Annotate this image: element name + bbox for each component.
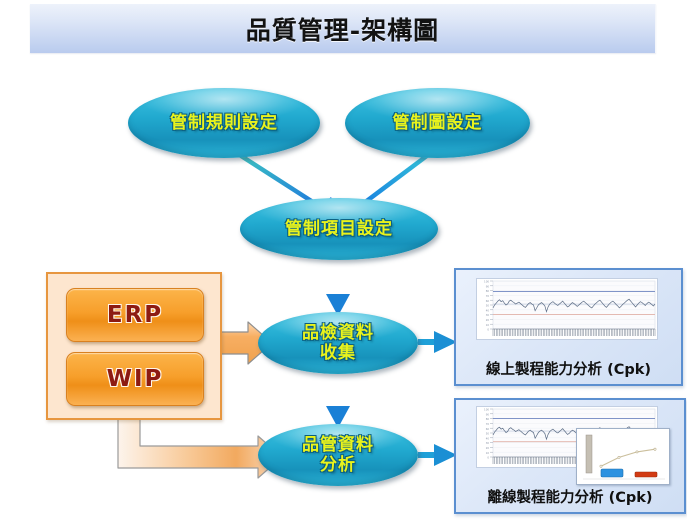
inset-capability-chart-svg [577, 429, 669, 484]
svg-text:90: 90 [486, 412, 490, 416]
svg-text:60: 60 [486, 427, 490, 431]
arrow-analyze-to-offline-panel [418, 444, 457, 466]
svg-text:50: 50 [486, 432, 490, 436]
node-control-chart-label: 管制圖設定 [393, 113, 483, 133]
svg-text:20: 20 [486, 446, 490, 450]
svg-text:0: 0 [487, 456, 489, 460]
source-button-erp-label: ERP [107, 302, 163, 328]
control-chart-online: 1009080706050403020100 [476, 278, 658, 340]
svg-text:90: 90 [486, 284, 490, 288]
arrow-items-to-collect [326, 254, 350, 316]
svg-text:70: 70 [486, 294, 490, 298]
svg-text:80: 80 [486, 289, 490, 293]
svg-text:40: 40 [486, 308, 490, 312]
source-button-wip-label: WIP [107, 366, 164, 392]
inset-capability-chart [576, 428, 670, 485]
svg-text:0: 0 [487, 328, 489, 332]
title-banner: 品質管理-架構圖 [30, 4, 656, 53]
svg-text:20: 20 [486, 318, 490, 322]
panel-offline-cpk-caption: 離線製程能力分析 (Cpk) [456, 486, 684, 507]
svg-text:50: 50 [486, 304, 490, 308]
node-control-chart[interactable]: 管制圖設定 [345, 88, 530, 158]
svg-text:30: 30 [486, 313, 490, 317]
node-control-rules-label: 管制規則設定 [170, 113, 278, 133]
source-button-wip[interactable]: WIP [66, 352, 204, 406]
svg-text:40: 40 [486, 436, 490, 440]
bent-block-arrow-icon [118, 414, 282, 478]
panel-online-cpk-caption: 線上製程能力分析 (Cpk) [456, 358, 681, 379]
node-control-rules[interactable]: 管制規則設定 [128, 88, 320, 158]
svg-text:80: 80 [486, 417, 490, 421]
page-title: 品質管理-架構圖 [30, 4, 655, 53]
node-control-items-label: 管制項目設定 [285, 219, 393, 239]
panel-online-cpk[interactable]: 1009080706050403020100 線上製程能力分析 (Cpk) [454, 268, 683, 386]
node-data-collect-label: 品檢資料 收集 [302, 323, 374, 363]
arrow-collect-to-online-panel [418, 331, 457, 353]
svg-text:30: 30 [486, 441, 490, 445]
arrow-collect-to-analyze [326, 368, 350, 428]
svg-text:100: 100 [484, 408, 489, 412]
svg-text:70: 70 [486, 422, 490, 426]
svg-text:100: 100 [484, 280, 489, 284]
svg-text:10: 10 [486, 323, 490, 327]
node-control-items[interactable]: 管制項目設定 [240, 198, 438, 260]
diagram-canvas: 品質管理-架構圖 [0, 0, 687, 520]
node-data-analyze-label: 品管資料 分析 [302, 435, 374, 475]
source-button-erp[interactable]: ERP [66, 288, 204, 342]
source-systems-box: ERP WIP [46, 272, 222, 420]
control-chart-online-svg: 1009080706050403020100 [477, 279, 657, 339]
svg-text:60: 60 [486, 299, 490, 303]
node-data-collect[interactable]: 品檢資料 收集 [258, 312, 418, 374]
panel-offline-cpk[interactable]: 1009080706050403020100 離線製程能力分析 (Cpk) [454, 398, 686, 514]
svg-text:10: 10 [486, 451, 490, 455]
node-data-analyze[interactable]: 品管資料 分析 [258, 424, 418, 486]
